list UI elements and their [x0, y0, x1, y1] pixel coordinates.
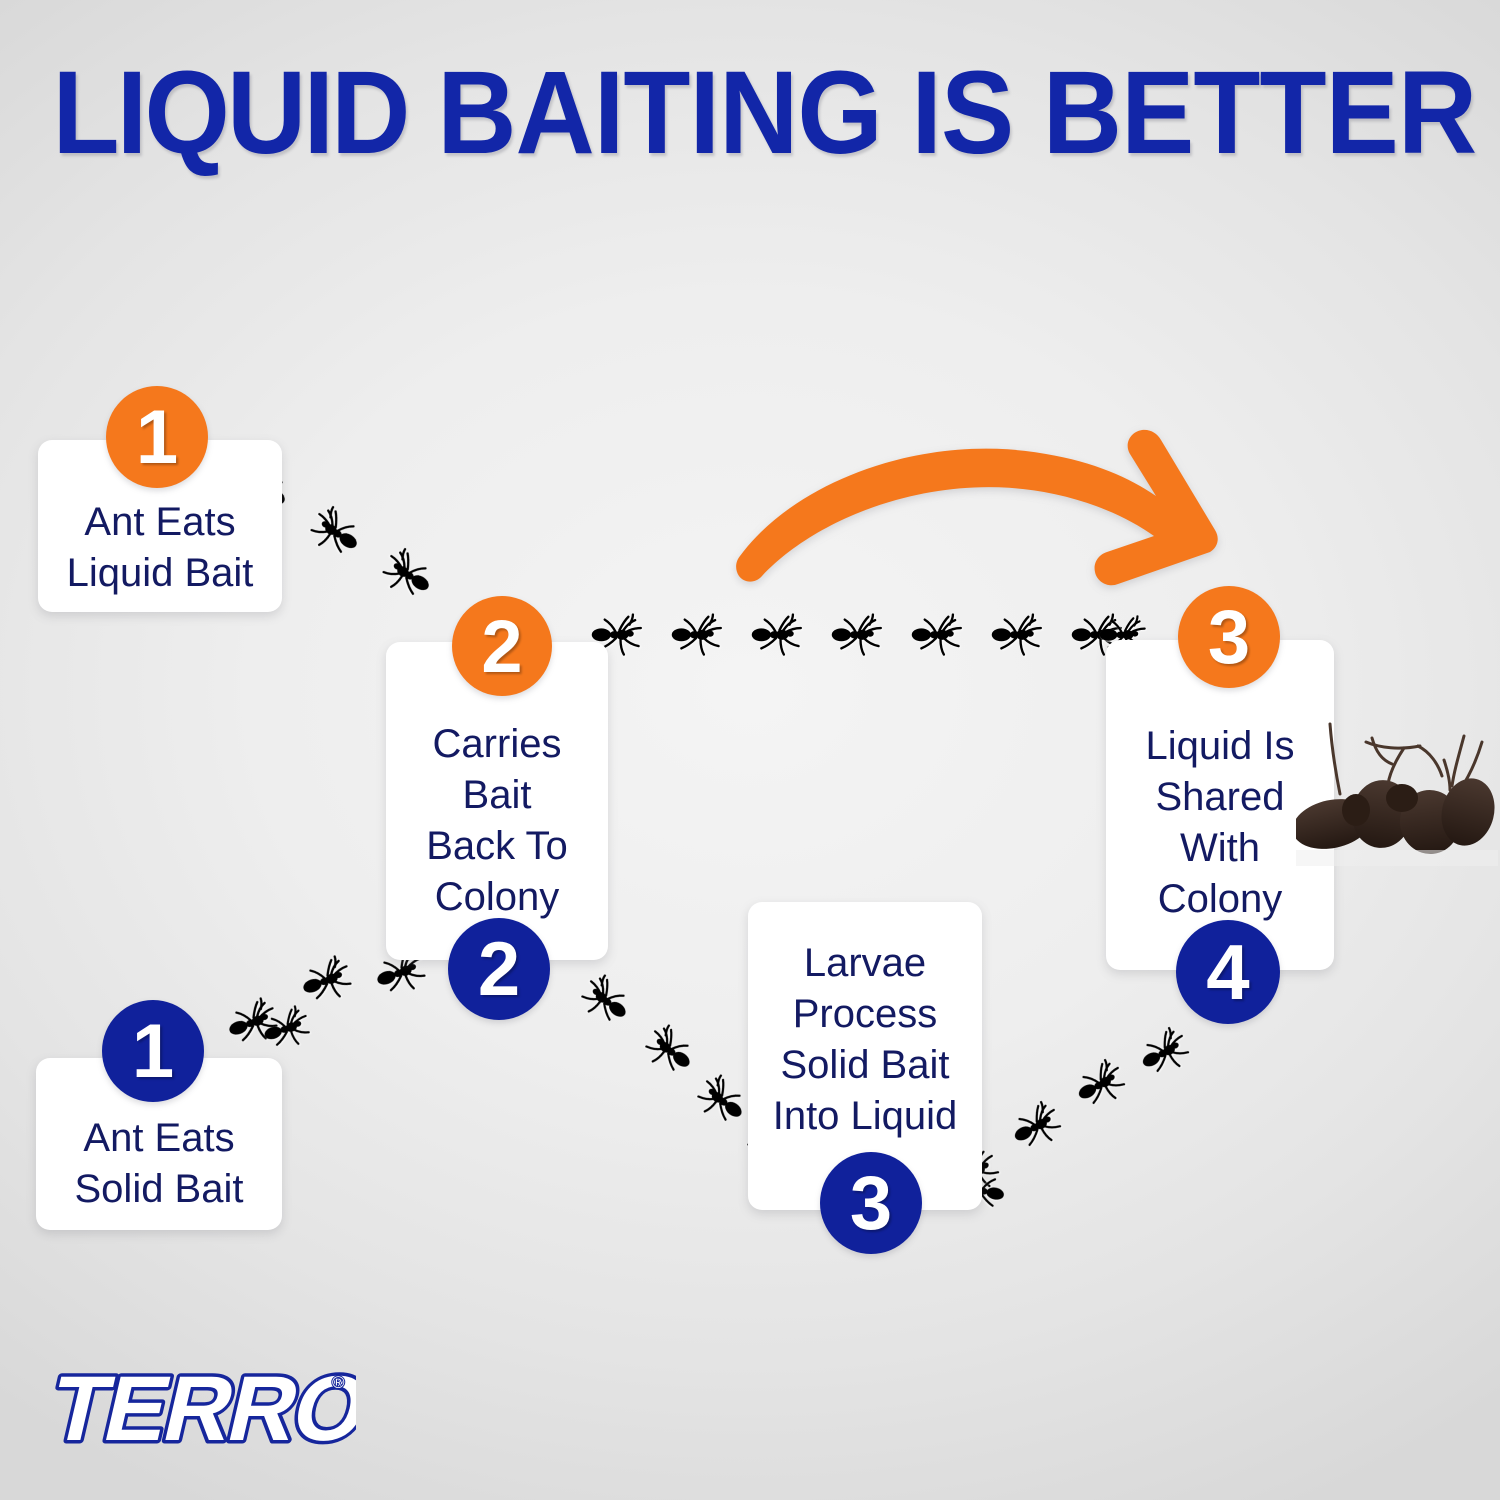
ant-icon [1066, 1054, 1133, 1116]
ants-sharing-liquid-photo [1296, 702, 1498, 874]
infographic-canvas: LIQUID BAITING IS BETTER Ant Eats Liquid… [0, 0, 1500, 1500]
card-solid-step-1-text: Ant Eats Solid Bait [65, 1113, 254, 1215]
badge-liquid-3: 3 [1178, 586, 1280, 688]
badge-liquid-1: 1 [106, 386, 208, 488]
badge-solid-2: 2 [448, 918, 550, 1020]
card-larvae-process-text: Larvae Process Solid Bait Into Liquid [763, 938, 968, 1143]
ant-icon [636, 1018, 704, 1084]
ant-icon [373, 542, 442, 608]
ant-icon [668, 613, 724, 656]
card-liquid-shared-text: Liquid Is Shared With Colony [1136, 721, 1305, 926]
ant-icon [828, 613, 884, 656]
orange-curved-arrow-icon [726, 408, 1236, 588]
ant-icon [301, 500, 370, 566]
card-carries-bait-text: Carries Bait Back To Colony [416, 719, 578, 924]
ant-icon [1002, 1096, 1069, 1158]
page-title-word-liquid: LIQUID [53, 47, 408, 179]
ant-icon [988, 613, 1044, 656]
badge-solid-1: 1 [102, 1000, 204, 1102]
card-liquid-step-1-text: Ant Eats Liquid Bait [57, 497, 264, 599]
ant-icon [688, 1068, 756, 1134]
page-title-rest: BAITING IS BETTER [437, 47, 1476, 179]
badge-solid-4: 4 [1176, 920, 1280, 1024]
terro-logo: TERRO ® [44, 1352, 356, 1468]
registered-mark: ® [332, 1373, 345, 1392]
ant-icon [748, 613, 804, 656]
badge-liquid-2: 2 [452, 596, 552, 696]
page-title: LIQUID BAITING IS BETTER [53, 54, 1448, 172]
svg-text:TERRO: TERRO [44, 1357, 356, 1460]
ant-icon [908, 613, 964, 656]
badge-solid-3: 3 [820, 1152, 922, 1254]
ant-icon [1130, 1022, 1197, 1084]
ant-icon [572, 968, 640, 1034]
